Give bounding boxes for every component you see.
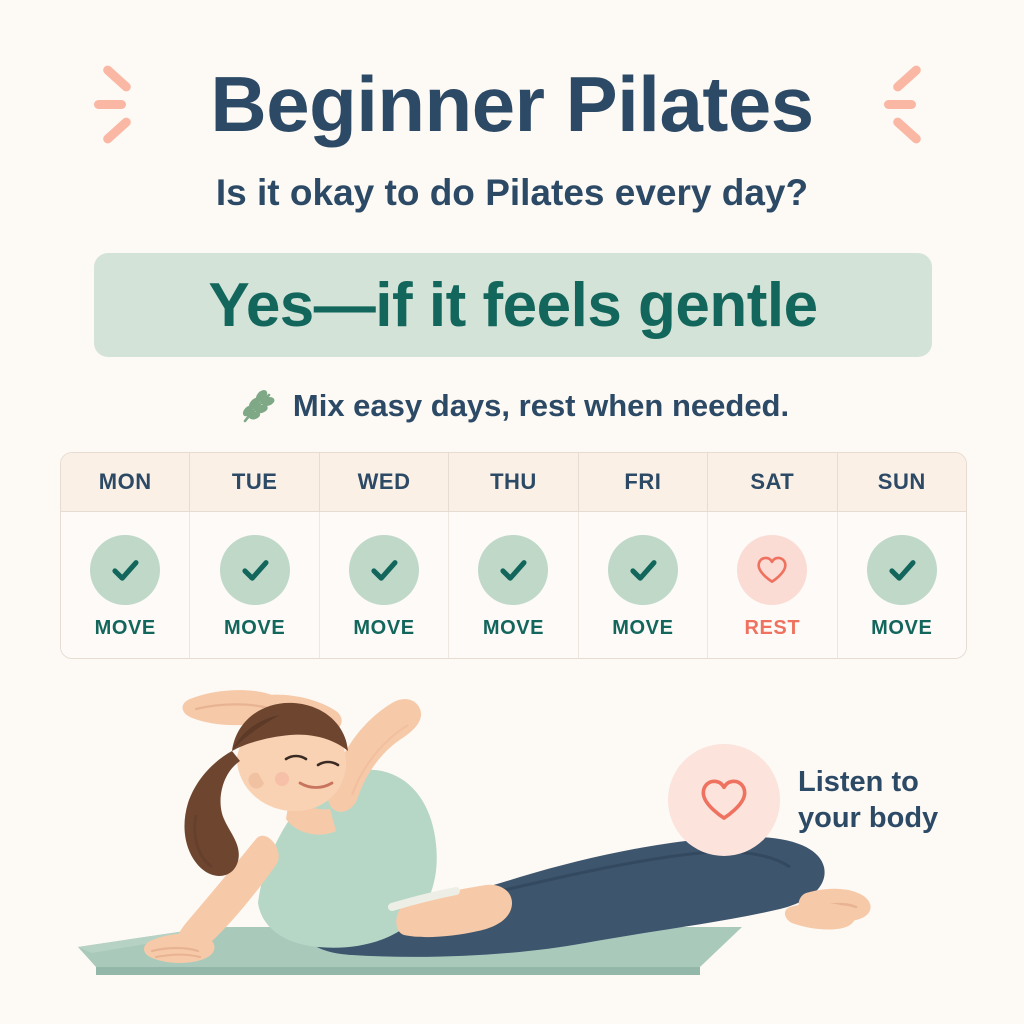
column-header-sun: SUN (838, 453, 966, 511)
check-icon (220, 535, 290, 605)
day-status-label: MOVE (353, 617, 414, 640)
answer-banner: Yes—if it feels gentle (94, 253, 932, 357)
day-status-label: MOVE (871, 617, 932, 640)
table-body-row: MOVE MOVE MOVE (61, 512, 966, 658)
tip-line: Mix easy days, rest when needed. (0, 385, 1024, 427)
check-icon (90, 535, 160, 605)
day-cell-mon: MOVE (61, 512, 190, 658)
leaf-sprig-icon (235, 385, 277, 427)
check-icon (349, 535, 419, 605)
day-status-label: MOVE (224, 617, 285, 640)
column-header-tue: TUE (190, 453, 319, 511)
listen-line-2: your body (798, 800, 938, 836)
day-cell-thu: MOVE (449, 512, 578, 658)
day-status-label: MOVE (483, 617, 544, 640)
day-cell-fri: MOVE (579, 512, 708, 658)
tip-text: Mix easy days, rest when needed. (293, 388, 789, 424)
day-cell-sun: MOVE (838, 512, 966, 658)
day-status-label: MOVE (95, 617, 156, 640)
day-cell-sat: REST (708, 512, 837, 658)
day-status-label: REST (744, 617, 800, 640)
column-header-wed: WED (320, 453, 449, 511)
page-title: Beginner Pilates (210, 65, 813, 143)
listen-to-body-text: Listen to your body (798, 764, 938, 837)
day-cell-wed: MOVE (320, 512, 449, 658)
day-cell-tue: MOVE (190, 512, 319, 658)
check-icon (867, 535, 937, 605)
answer-text: Yes—if it feels gentle (208, 270, 817, 341)
listen-line-1: Listen to (798, 764, 938, 800)
column-header-sat: SAT (708, 453, 837, 511)
title-row: Beginner Pilates (0, 52, 1024, 156)
check-icon (608, 535, 678, 605)
column-header-fri: FRI (579, 453, 708, 511)
question-subtitle: Is it okay to do Pilates every day? (0, 172, 1024, 214)
column-header-thu: THU (449, 453, 578, 511)
heart-outline-icon (668, 744, 780, 856)
weekly-schedule-table: MON TUE WED THU FRI SAT SUN MOVE (60, 452, 967, 659)
day-status-label: MOVE (612, 617, 673, 640)
heart-outline-icon (737, 535, 807, 605)
column-header-mon: MON (61, 453, 190, 511)
infographic-poster: Beginner Pilates Is it okay to do Pilate… (0, 0, 1024, 1024)
check-icon (478, 535, 548, 605)
listen-to-body-callout: Listen to your body (668, 740, 968, 860)
table-header-row: MON TUE WED THU FRI SAT SUN (61, 453, 966, 512)
